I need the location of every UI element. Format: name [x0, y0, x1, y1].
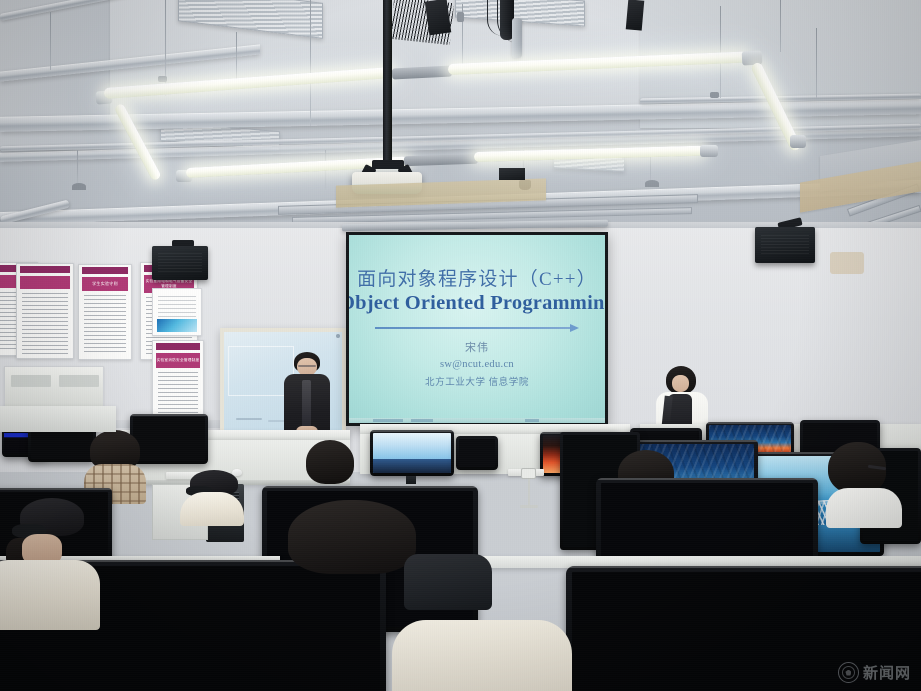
monitor-bezel [566, 566, 921, 568]
computer-monitor-icon [370, 430, 454, 476]
student-coat [826, 488, 902, 528]
projected-slide: 面向对象程序设计（C++） Object Oriented Programmin… [349, 235, 605, 423]
student [392, 620, 572, 691]
ceiling-sensor [499, 168, 525, 180]
hanger-rod [310, 0, 311, 126]
right-arrow-icon [375, 322, 580, 334]
hanger-clip [158, 76, 167, 82]
monitor-screen [459, 439, 495, 467]
backpack [404, 554, 492, 610]
sky-clouds-wallpaper [373, 433, 451, 473]
cabinet-drawer [59, 375, 99, 387]
hanger-clip [457, 12, 464, 22]
wall-info-board [152, 288, 202, 336]
wall-patch [830, 252, 864, 274]
monitor-stand [406, 476, 416, 484]
poster-header: 实验室消防安全管理制度 [156, 353, 200, 368]
watermark: 新闻网 [838, 662, 911, 683]
poster-body [22, 293, 68, 354]
watermark-text: 新闻网 [863, 662, 911, 683]
hanger-rod [50, 12, 51, 70]
student [826, 442, 900, 522]
monitor-bezel [706, 422, 794, 424]
monitor-screen [373, 433, 451, 473]
hanger-rod [816, 28, 817, 98]
hanger-rod [77, 150, 78, 186]
slide-taskbar [349, 418, 605, 423]
poster-header [20, 276, 70, 289]
news-seal-logo-icon [838, 662, 859, 683]
poster-tag [156, 343, 200, 350]
monitor-bezel [0, 488, 112, 490]
slide-title-chinese: 面向对象程序设计（C++） [357, 264, 597, 291]
arrow-line [375, 327, 571, 329]
slide-presenter-org: 北方工业大学 信息学院 [425, 374, 529, 388]
student [0, 498, 96, 622]
assistant-face [672, 375, 689, 392]
hanger-clip [645, 180, 659, 187]
speaker-grill [158, 253, 203, 272]
presenter-jacket-placket [302, 380, 311, 432]
wall-poster: 学生实验守则 [78, 264, 132, 360]
monitor-bezel [370, 430, 454, 432]
poster-tag [82, 267, 128, 274]
arrow-head [570, 324, 579, 332]
slide-presenter-email: sw@ncut.edu.cn [440, 359, 514, 370]
student-coat [0, 560, 100, 630]
pipe-icon [512, 18, 522, 58]
taskbar-item [411, 419, 433, 422]
hanger-rod [780, 0, 781, 52]
student-hair [288, 500, 416, 574]
poster-image [157, 319, 197, 332]
poster-body [158, 296, 196, 317]
monitor-bezel [262, 486, 478, 488]
poster-tag [20, 266, 70, 273]
cabinet-drawer [11, 375, 51, 387]
projection-screen-icon: 面向对象程序设计（C++） Object Oriented Programmin… [346, 232, 608, 426]
slide-title-english: Object Oriented Programming [349, 292, 605, 315]
side-table [0, 406, 116, 432]
ceiling [0, 0, 921, 232]
whiteboard-mark [236, 418, 262, 420]
taskbar-item [373, 419, 403, 422]
ceiling-cable-box [626, 0, 645, 31]
student [186, 470, 242, 522]
monitor-bezel [596, 478, 818, 480]
poster-body [84, 295, 126, 355]
hanger-clip [72, 183, 86, 190]
wall-poster [16, 263, 74, 359]
slide-content: 面向对象程序设计（C++） Object Oriented Programmin… [349, 235, 605, 423]
microphone-icon [521, 468, 536, 479]
presenter-glasses [298, 365, 316, 367]
whiteboard-pin [336, 334, 340, 338]
monitor-bezel [130, 414, 208, 416]
student-hair [306, 440, 354, 484]
speaker-grill [761, 235, 809, 255]
student [288, 500, 418, 592]
computer-monitor-icon [456, 436, 498, 470]
hanger-clip [710, 92, 719, 98]
ceiling-cable-box [425, 0, 452, 35]
wall-speaker-icon [755, 227, 815, 263]
side-cabinet [4, 366, 104, 408]
wall-speaker-icon [152, 246, 208, 280]
taskbar-item [525, 419, 539, 422]
classroom-photo: 学生实验守则 实验室用电和电气设备安全管理制度 实验室消防安全管理制度 [0, 0, 921, 691]
student-coat [392, 620, 572, 691]
microphone-base [520, 505, 538, 508]
slide-presenter-name: 宋伟 [465, 339, 489, 355]
student-coat [180, 492, 244, 526]
poster-header: 学生实验守则 [82, 277, 128, 291]
projector-mount-pole [383, 0, 392, 168]
